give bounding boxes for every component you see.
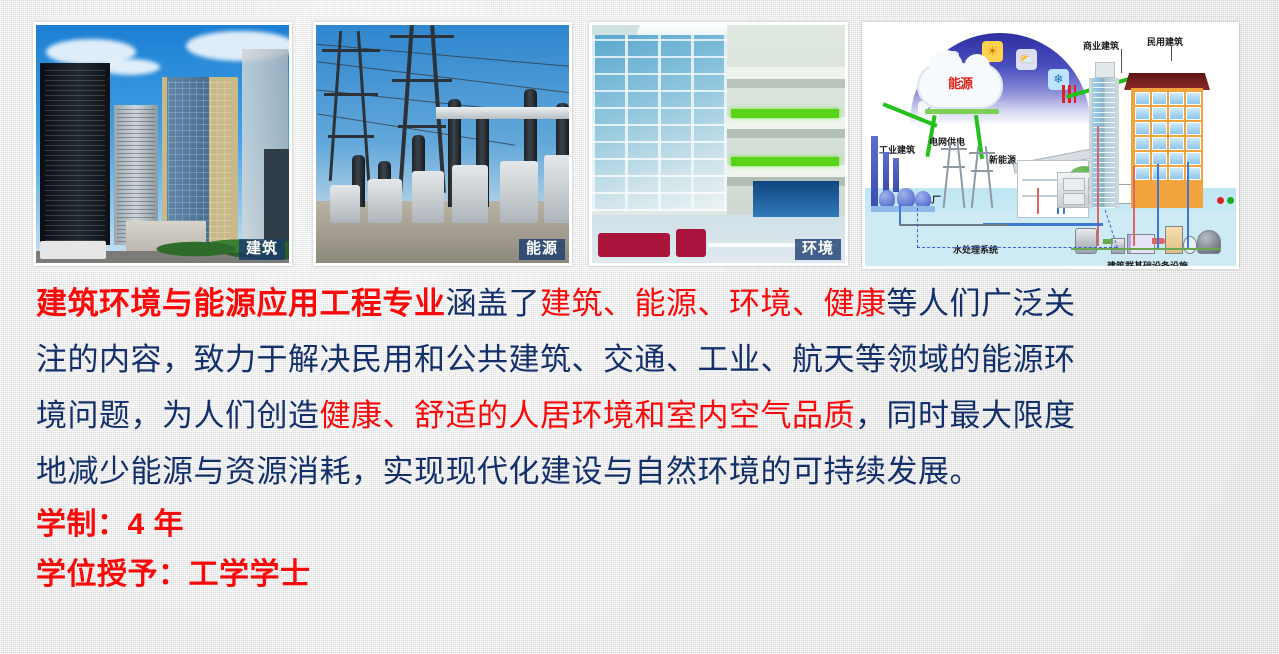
major-name: 建筑环境与能源应用工程专业 [36,286,446,321]
degree-fact: 学位授予：工学学士 [0,550,1279,600]
sky-background [36,25,289,263]
tower-crown [1095,62,1115,78]
photo-strip: 建筑 [0,0,1279,272]
hot-pipe [1037,188,1039,214]
label-water-treatment: 水处理系统 [953,243,998,256]
curtain-wall [592,35,732,211]
substation-equipment [452,165,488,223]
floor-slab [727,117,845,129]
line1-blue-b: 等人们广泛关 [887,286,1076,321]
energy-system-diagram[interactable]: ☂ ☁ ☀ ⛅ ❄ ⚡ 能源 工业建筑 电网供电 新能源 水厂 水处理系统 建筑… [862,22,1239,269]
green-accent [731,109,839,118]
industrial-plant [871,136,931,208]
diagram-canvas: ☂ ☁ ☀ ⛅ ❄ ⚡ 能源 工业建筑 电网供电 新能源 水厂 水处理系统 建筑… [865,25,1236,266]
line3-keywords: 健康、舒适的人居环境和室内空气品质 [320,398,856,433]
paragraph-line-3: 境问题，为人们创造健康、舒适的人居环境和室内空气品质，同时最大限度 [0,388,1279,444]
line1-blue-a: 涵盖了 [446,286,541,321]
water-riser [899,204,901,226]
sofa-shape [676,229,706,257]
energy-photo[interactable]: 能源 [313,22,572,266]
paragraph-line-2: 注的内容，致力于解决民用和公共建筑、交通、工业、航天等领域的能源环 [0,332,1279,388]
architecture-photo[interactable]: 建筑 [33,22,292,266]
equipment-fan [1197,230,1221,254]
cloud-sun-icon: ⛅ [1016,49,1037,70]
hot-water-riser [1097,126,1099,246]
vehicle-shape [40,241,106,259]
label-commercial: 商业建筑 [1083,39,1119,52]
sky-background [316,25,569,263]
transmission-tower [322,31,380,181]
cloud-label: 能源 [917,73,1003,92]
equipment-tank [1075,228,1097,254]
display-panel [753,181,839,217]
substation-equipment [368,179,402,223]
photo-badge-environment: 环境 [795,239,841,261]
energy-bus [925,109,999,114]
status-dot-red [1217,197,1224,204]
green-accent [731,157,839,166]
photo-badge-architecture: 建筑 [239,239,285,261]
chilled-water-riser [1187,162,1189,248]
supply-line [899,224,1009,226]
substation-equipment [544,155,572,223]
paragraph-line-1: 建筑环境与能源应用工程专业涵盖了建筑、能源、环境、健康等人们广泛关 [0,276,1279,332]
status-dot-green [1227,197,1234,204]
line3-blue-b: ，同时最大限度 [855,398,1076,433]
chilled-water-riser [1157,164,1159,248]
label-residential: 民用建筑 [1147,35,1183,48]
duration-fact: 学制：4 年 [0,500,1279,550]
leader-line [1171,45,1172,61]
label-building-facilities: 建筑群基础设备设施 [1107,259,1188,269]
paragraph-line-4: 地减少能源与资源消耗，实现现代化建设与自然环境的可持续发展。 [0,444,1279,500]
description-text-block: 建筑环境与能源应用工程专业涵盖了建筑、能源、环境、健康等人们广泛关 注的内容，致… [0,276,1279,600]
floor-slab [727,67,845,79]
atrium-background [592,25,845,263]
flow-arrow [1152,238,1166,244]
line3-blue-a: 境问题，为人们创造 [36,398,320,433]
equipment-chiller [1127,234,1155,254]
transmission-tower [941,142,967,208]
photo-badge-energy: 能源 [519,239,565,261]
equipment-vessel [1183,236,1197,254]
substation-equipment [412,171,444,223]
hot-water-riser [1133,166,1135,246]
floor-slab [727,165,845,177]
residential-building [1131,88,1203,208]
transmission-tower [969,146,995,208]
flow-arrow [1103,239,1113,244]
sofa-shape [598,233,670,257]
environment-photo[interactable]: 环境 [589,22,848,266]
equipment-pump [1111,238,1125,254]
substation-equipment [330,185,360,223]
service-main [1071,248,1221,250]
line1-keywords: 建筑、能源、环境、健康 [540,286,887,321]
leader-line [1121,49,1122,73]
busbar [436,107,569,119]
building-shape [162,77,238,245]
treatment-boundary [917,208,918,248]
substation-equipment [500,161,538,223]
treatment-boundary [917,247,1117,248]
commercial-tower [1089,78,1119,208]
building-shape [40,63,110,245]
